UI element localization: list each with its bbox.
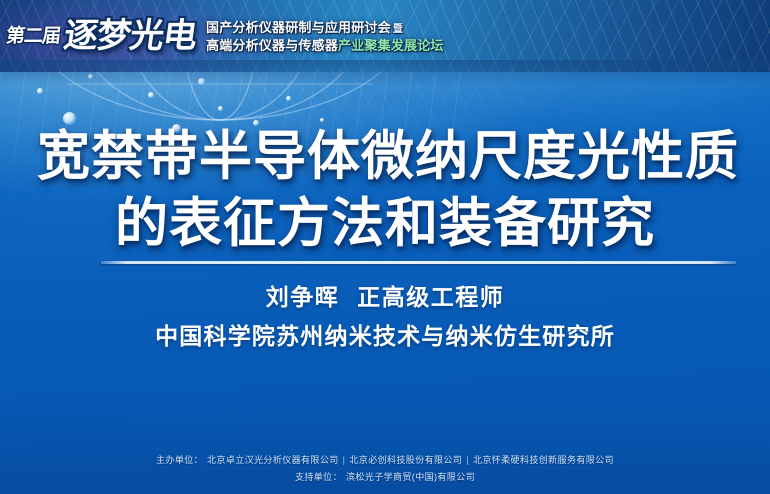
event-header: 第二届 逐梦光电 国产分析仪器研制与应用研讨会暨 高端分析仪器与传感器产业聚集发… bbox=[0, 0, 770, 72]
footer-support-label: 支持单位： bbox=[295, 472, 342, 482]
banner-subtitle-text-1: 国产分析仪器研制与应用研讨会 bbox=[206, 20, 391, 35]
presenter-name-row: 刘争晖正高级工程师 bbox=[0, 282, 770, 313]
banner-subtitle-text-2a: 高端分析仪器与传感器 bbox=[206, 38, 338, 53]
banner-subtitle-amp: 暨 bbox=[391, 25, 405, 35]
slide-footer: 主办单位：北京卓立汉光分析仪器有限公司|北京必创科技股份有限公司|北京怀柔硬科技… bbox=[0, 452, 770, 486]
presenter-name: 刘争晖 bbox=[266, 284, 340, 310]
footer-host-org-3: 北京怀柔硬科技创新服务有限公司 bbox=[473, 455, 614, 465]
banner-subtitle-text-2b: 产业聚集发展论坛 bbox=[338, 38, 444, 53]
edition-badge: 第二届 bbox=[5, 27, 61, 46]
footer-support-org: 滨松光子学商贸(中国)有限公司 bbox=[346, 472, 475, 482]
footer-support-line: 支持单位：滨松光子学商贸(中国)有限公司 bbox=[0, 469, 770, 486]
presentation-slide: 第二届 逐梦光电 国产分析仪器研制与应用研讨会暨 高端分析仪器与传感器产业聚集发… bbox=[0, 0, 770, 494]
title-line-2: 的表征方法和装备研究 bbox=[0, 191, 770, 258]
footer-separator: | bbox=[462, 452, 473, 469]
banner-subtitle-line-2: 高端分析仪器与传感器产业聚集发展论坛 bbox=[206, 39, 444, 52]
banner-subtitles: 国产分析仪器研制与应用研讨会暨 高端分析仪器与传感器产业聚集发展论坛 bbox=[206, 21, 444, 52]
presenter-affiliation: 中国科学院苏州纳米技术与纳米仿生研究所 bbox=[0, 321, 770, 352]
presentation-title: 宽禁带半导体微纳尺度光性质 的表征方法和装备研究 bbox=[0, 124, 770, 258]
footer-host-org-2: 北京必创科技股份有限公司 bbox=[349, 455, 462, 465]
presenter-rank: 正高级工程师 bbox=[357, 284, 504, 310]
footer-host-org-1: 北京卓立汉光分析仪器有限公司 bbox=[207, 455, 339, 465]
title-divider bbox=[101, 261, 736, 264]
title-line-1: 宽禁带半导体微纳尺度光性质 bbox=[6, 124, 770, 191]
banner-subtitle-line-1: 国产分析仪器研制与应用研讨会暨 bbox=[206, 21, 444, 35]
footer-host-line: 主办单位：北京卓立汉光分析仪器有限公司|北京必创科技股份有限公司|北京怀柔硬科技… bbox=[0, 452, 770, 469]
event-wordmark-logo: 逐梦光电 bbox=[62, 19, 199, 53]
footer-host-label: 主办单位： bbox=[156, 455, 203, 465]
footer-separator: | bbox=[339, 452, 350, 469]
presenter-info: 刘争晖正高级工程师 中国科学院苏州纳米技术与纳米仿生研究所 bbox=[0, 282, 770, 352]
